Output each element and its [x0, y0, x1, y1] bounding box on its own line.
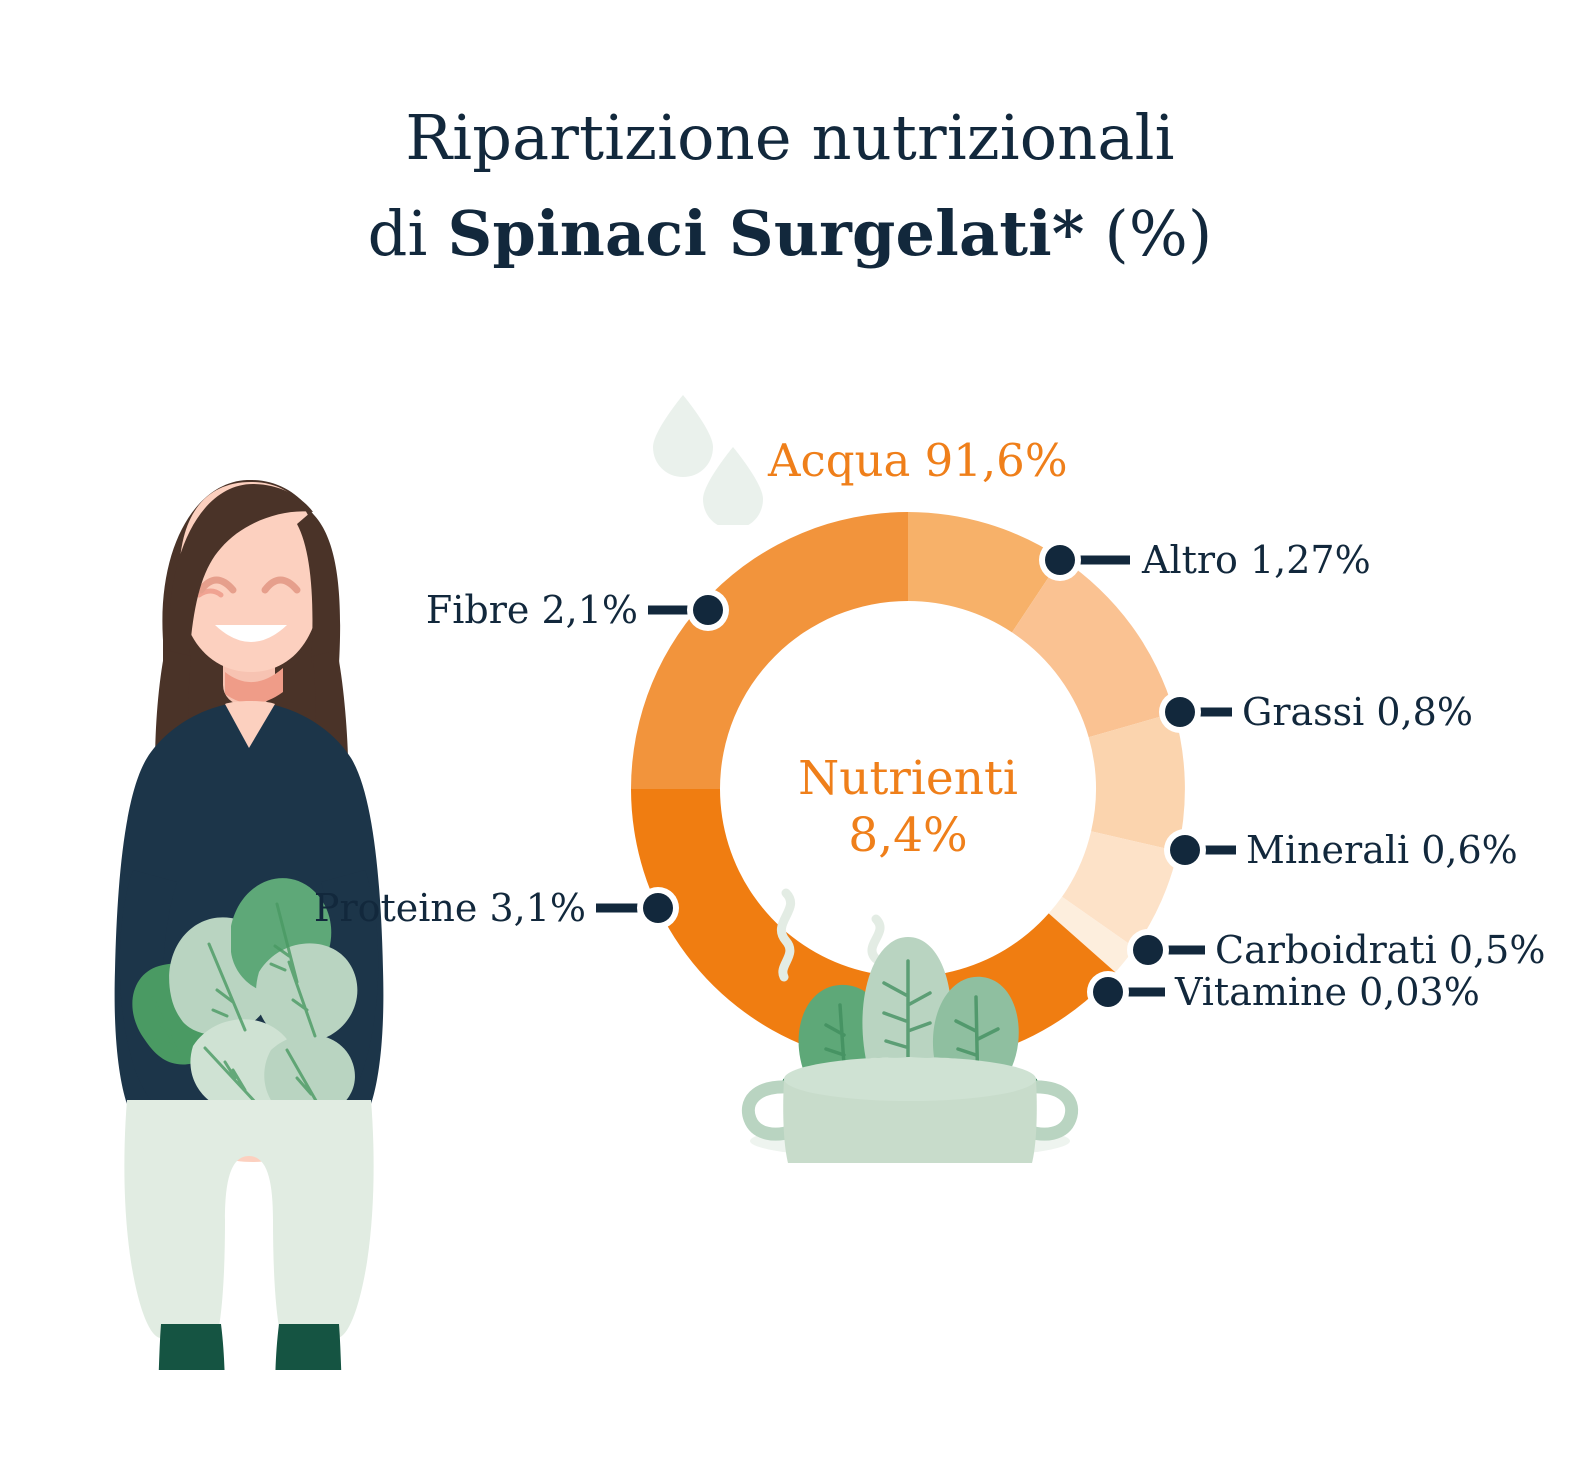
- boot-right: [259, 1324, 365, 1370]
- steam: [781, 893, 880, 977]
- center-nutrienti-text: Nutrienti: [798, 751, 1018, 806]
- label-minerali: Minerali 0,6%: [1246, 831, 1518, 869]
- segment-acqua: [631, 512, 908, 789]
- infographic-canvas: Ripartizione nutrizionali di Spinaci Sur…: [0, 0, 1580, 1460]
- label-carboidrati: Carboidrati 0,5%: [1215, 931, 1545, 969]
- label-altro: Altro 1,27%: [1142, 541, 1371, 579]
- trousers: [124, 1100, 373, 1338]
- boot-left: [135, 1324, 241, 1370]
- title-line-1: Ripartizione nutrizionali: [0, 90, 1580, 186]
- pot-of-spinach-illustration: [700, 865, 1120, 1165]
- page-title: Ripartizione nutrizionali di Spinaci Sur…: [0, 90, 1580, 282]
- center-nutrienti-value: 8,4%: [848, 808, 967, 863]
- donut-center-label: Nutrienti 8,4%: [758, 750, 1058, 865]
- title-line-2-prefix: di: [368, 197, 448, 270]
- label-grassi: Grassi 0,8%: [1242, 693, 1473, 731]
- label-vitamine: Vitamine 0,03%: [1175, 973, 1480, 1011]
- label-fibre: Fibre 2,1%: [248, 591, 638, 629]
- label-proteine: Proteine 3,1%: [196, 889, 586, 927]
- title-line-2-suffix: (%): [1085, 197, 1213, 270]
- label-acqua: Acqua 91,6%: [768, 438, 1068, 483]
- title-line-2-bold: Spinaci Surgelati*: [447, 197, 1084, 270]
- title-line-2: di Spinaci Surgelati* (%): [0, 186, 1580, 282]
- pot-rim: [784, 1057, 1036, 1101]
- segment-minerali: [1089, 713, 1185, 852]
